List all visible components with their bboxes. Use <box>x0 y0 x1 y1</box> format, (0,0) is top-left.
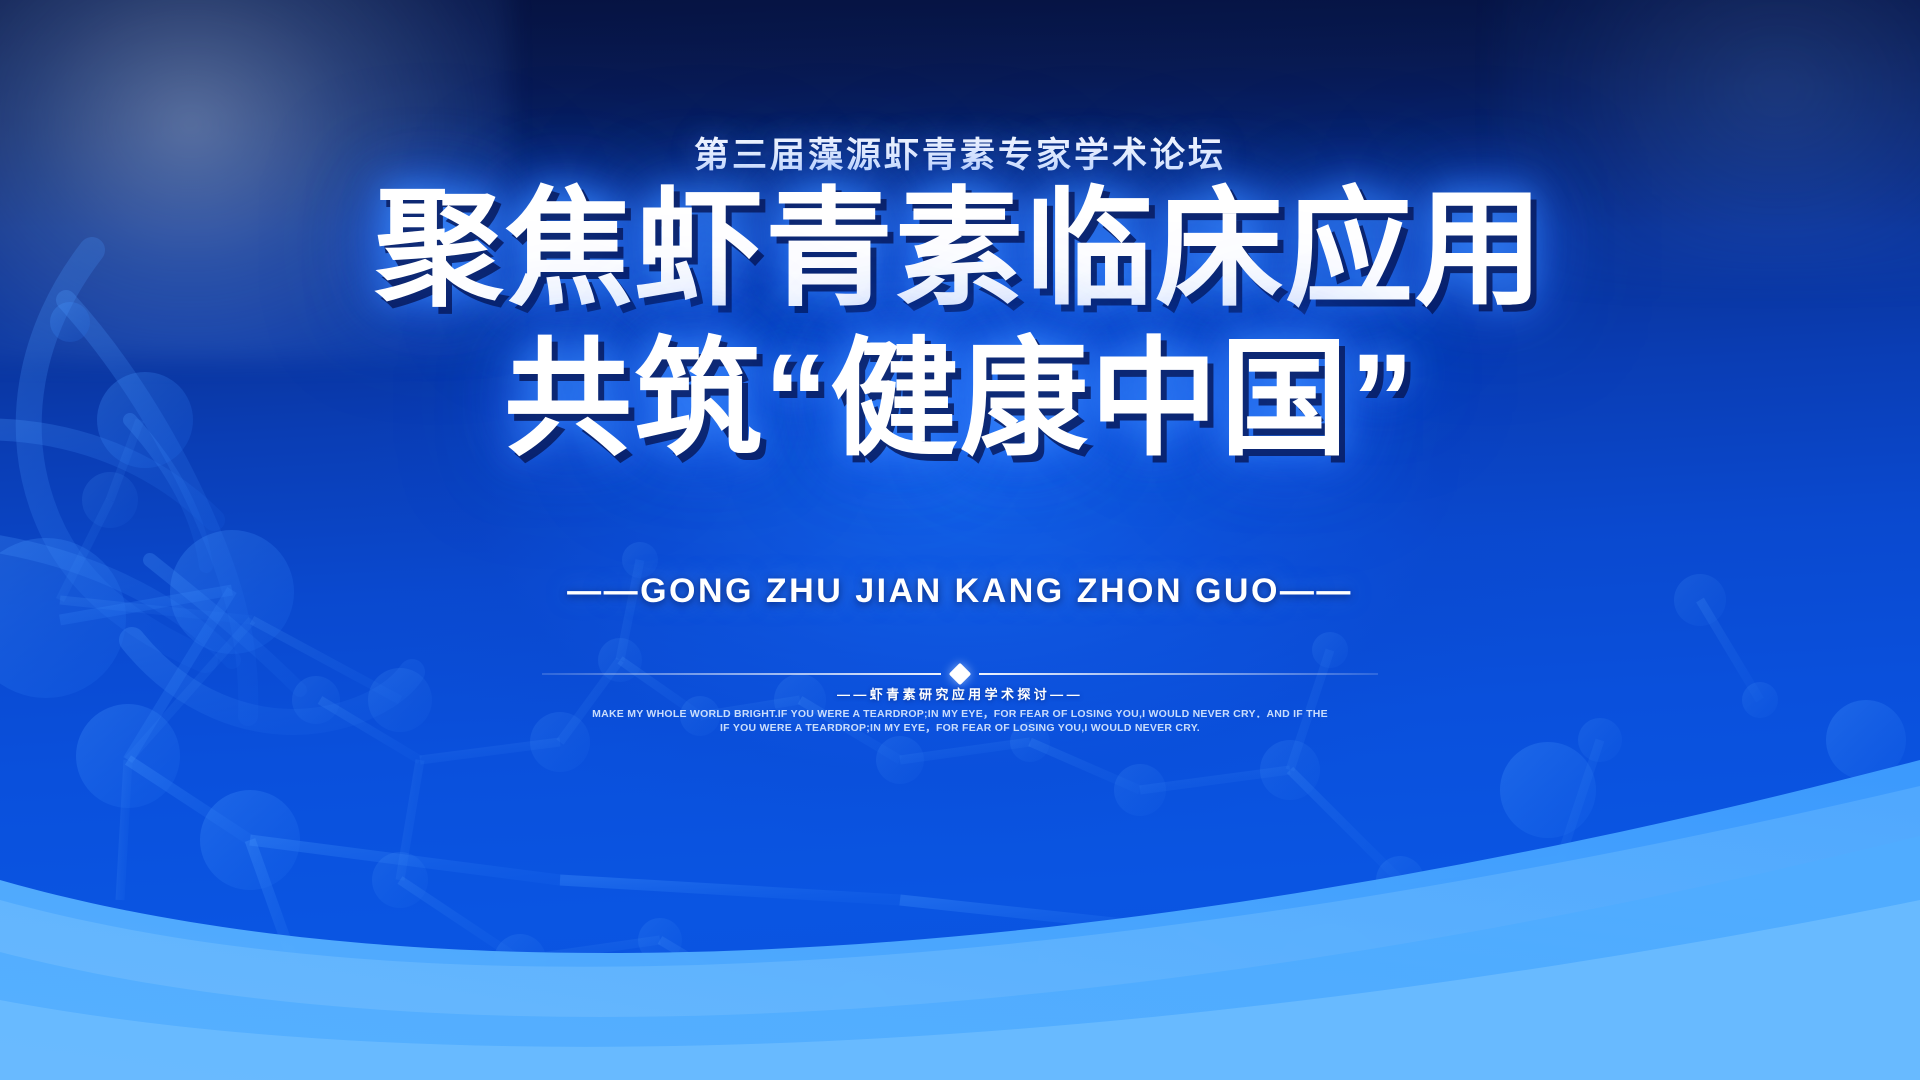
diamond-icon <box>949 663 972 686</box>
divider <box>542 664 1378 684</box>
main-title: 聚焦虾青素临床应用 共筑“健康中国” <box>0 186 1920 464</box>
divider-bar-left <box>542 673 941 675</box>
event-kicker: 第三届藻源虾青素专家学术论坛 <box>0 127 1920 178</box>
tagline: ——虾青素研究应用学术探讨—— <box>0 684 1920 703</box>
pinyin-subtitle: ——GONG ZHU JIAN KANG ZHON GUO—— <box>0 572 1920 611</box>
poster-stage: 第三届藻源虾青素专家学术论坛 聚焦虾青素临床应用 共筑“健康中国” ——GONG… <box>0 0 1920 1080</box>
poster-content: 第三届藻源虾青素专家学术论坛 聚焦虾青素临床应用 共筑“健康中国” ——GONG… <box>0 0 1920 1080</box>
fineprint-line-2: IF YOU WERE A TEARDROP;IN MY EYE，FOR FEA… <box>0 721 1920 735</box>
fineprint-line-1: MAKE MY WHOLE WORLD BRIGHT.IF YOU WERE A… <box>0 707 1920 721</box>
main-title-line-2: 共筑“健康中国” <box>0 336 1920 464</box>
divider-bar-right <box>979 673 1378 675</box>
main-title-line-1: 聚焦虾青素临床应用 <box>0 186 1920 314</box>
fineprint: MAKE MY WHOLE WORLD BRIGHT.IF YOU WERE A… <box>0 707 1920 735</box>
